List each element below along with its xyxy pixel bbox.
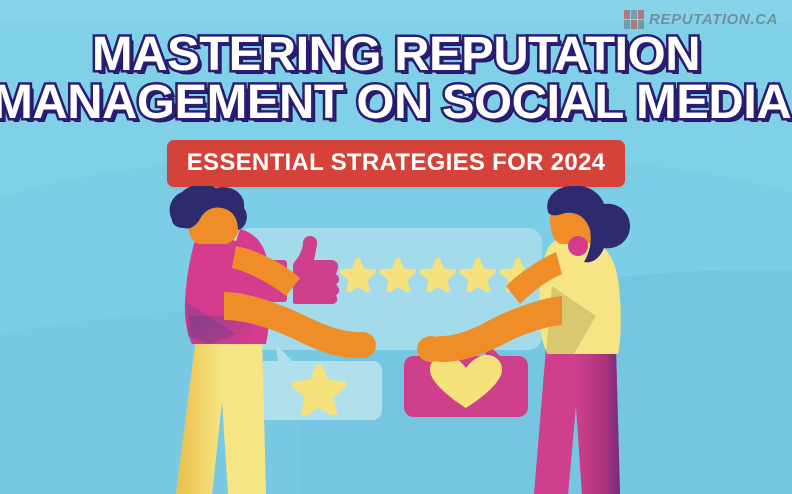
- subtitle-container: ESSENTIAL STRATEGIES FOR 2024: [0, 140, 792, 187]
- brand-logo[interactable]: REPUTATION.CA: [624, 10, 778, 29]
- reputation-ca-grid-logo-icon: [624, 10, 644, 29]
- subtitle-badge: ESSENTIAL STRATEGIES FOR 2024: [167, 140, 626, 187]
- page-title: MASTERING REPUTATION MANAGEMENT ON SOCIA…: [0, 32, 792, 127]
- brand-logo-text: REPUTATION.CA: [649, 11, 778, 28]
- headline-line-2: MANAGEMENT ON SOCIAL MEDIA:: [0, 80, 792, 126]
- headline-line-1: MASTERING REPUTATION: [0, 32, 792, 78]
- hero-illustration: [0, 186, 792, 494]
- promo-banner: REPUTATION.CA MASTERING REPUTATION MANAG…: [0, 0, 792, 494]
- earring: [568, 236, 588, 256]
